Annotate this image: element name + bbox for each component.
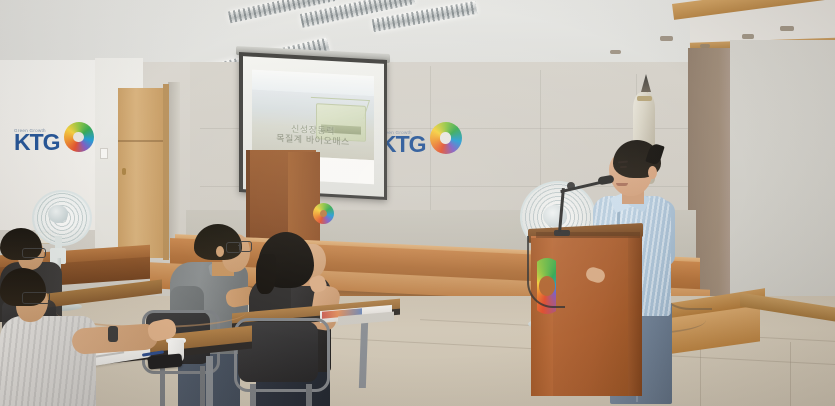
microphone-cable <box>527 236 565 308</box>
wall-logo-stage: Green Growth KTG <box>380 122 462 155</box>
chair-leg <box>250 384 256 406</box>
attendee-man-ear <box>216 246 224 257</box>
attendee-man-glasses-bridge <box>238 245 241 246</box>
fan-hub <box>543 205 567 227</box>
chair-leg <box>160 366 165 406</box>
podium-right-edge <box>628 236 642 396</box>
desk-front-left-leg <box>206 356 213 406</box>
fan-hub <box>48 205 68 223</box>
ktg-emblem-icon <box>313 203 334 224</box>
ceiling-downlight <box>610 50 621 54</box>
ceiling-downlight <box>780 26 794 31</box>
ceiling-downlight <box>660 36 673 41</box>
ceiling-downlight <box>742 34 754 39</box>
door-handle[interactable] <box>122 168 126 175</box>
door-frame <box>163 84 169 260</box>
wristwatch <box>108 326 118 342</box>
conference-room-photo: Green Growth KTG Green Growth KTG <box>0 0 835 406</box>
chair-leg <box>200 366 205 406</box>
chair-leg <box>306 384 312 406</box>
ktg-circle-mark-icon <box>430 122 462 154</box>
flag-tie-band <box>637 96 652 101</box>
attendee-front-left-dark-glasses <box>22 248 46 258</box>
attendee-man-glasses <box>239 241 252 252</box>
attendee-woman-hair-side <box>256 254 276 294</box>
floor-tile-seam <box>790 342 791 406</box>
presenter-ear <box>648 166 657 179</box>
ktg-circle-mark-icon <box>64 122 94 152</box>
wall-logo-left: Green Growth KTG <box>14 122 94 153</box>
presenter-mouth <box>616 183 628 186</box>
door-panel-line <box>118 140 163 142</box>
light-switch[interactable] <box>100 148 108 159</box>
logo-wordmark: KTG <box>14 133 60 153</box>
doorway-recess <box>168 82 180 258</box>
attendee-front-left-striped-glasses <box>22 292 50 304</box>
